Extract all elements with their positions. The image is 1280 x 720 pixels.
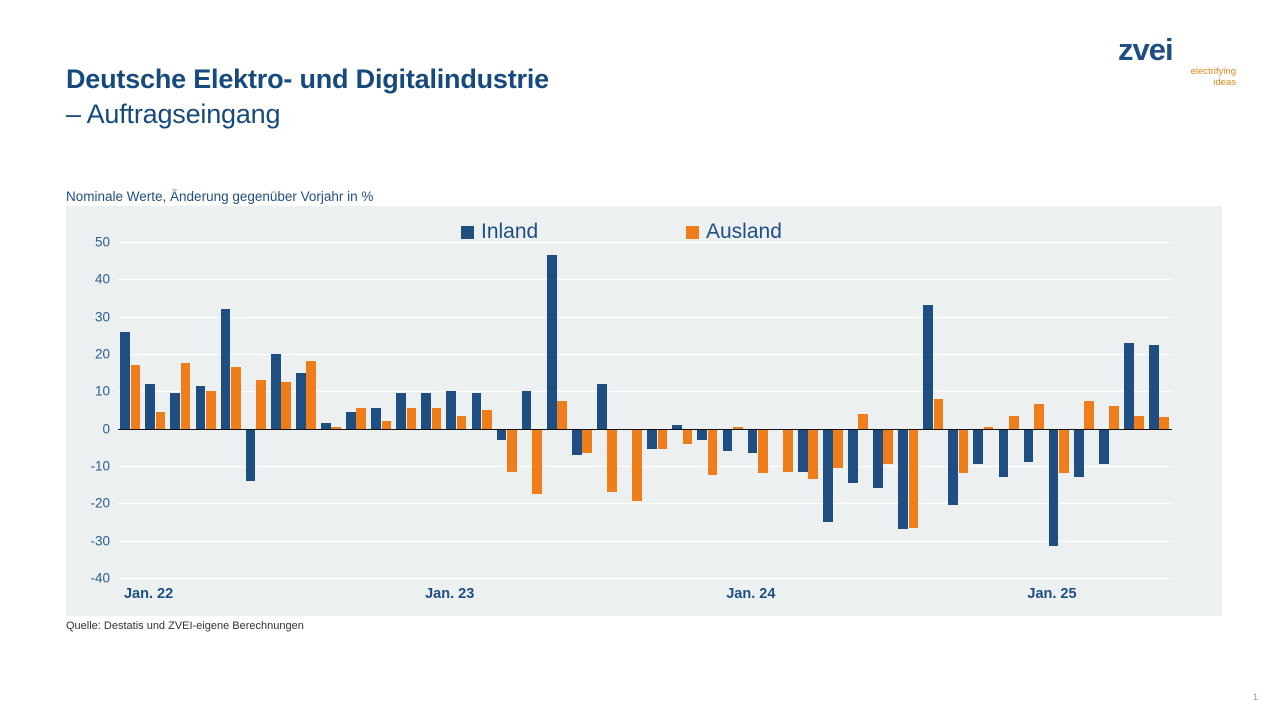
legend-label-ausland: Ausland	[706, 220, 782, 244]
x-axis-tick-label: Jan. 24	[726, 586, 775, 602]
bar-ausland-33	[959, 429, 969, 474]
title-line-secondary: – Auftragseingang	[66, 96, 549, 132]
page-number: 1	[1253, 692, 1258, 702]
bar-ausland-29	[858, 414, 868, 429]
gridline	[118, 578, 1172, 579]
bar-inland-28	[823, 429, 833, 522]
page-title: Deutsche Elektro- und Digitalindustrie –…	[66, 62, 549, 132]
bar-ausland-28	[833, 429, 843, 468]
y-axis-tick-label: 0	[102, 421, 110, 436]
bar-ausland-17	[557, 401, 567, 429]
bar-inland-23	[697, 429, 707, 440]
bar-ausland-39	[1109, 406, 1119, 428]
bar-inland-2	[170, 393, 180, 428]
chart-subtitle: Nominale Werte, Änderung gegenüber Vorja…	[66, 189, 373, 204]
bar-ausland-9	[356, 408, 366, 429]
bar-inland-4	[221, 309, 231, 428]
bar-ausland-11	[407, 408, 417, 429]
bar-ausland-31	[909, 429, 919, 528]
bar-ausland-22	[683, 429, 693, 444]
bar-inland-36	[1024, 429, 1034, 463]
bar-ausland-38	[1084, 401, 1094, 429]
bar-inland-18	[572, 429, 582, 455]
bar-inland-35	[999, 429, 1009, 478]
bar-inland-6	[271, 354, 281, 429]
bar-inland-13	[446, 391, 456, 428]
bar-ausland-13	[457, 416, 467, 429]
bar-ausland-1	[156, 412, 166, 429]
legend-item-ausland: Ausland	[686, 220, 782, 244]
logo-wordmark: zvei	[1118, 34, 1238, 65]
bar-ausland-35	[1009, 416, 1019, 429]
zero-line	[118, 429, 1172, 431]
y-axis-tick-label: 40	[95, 272, 110, 287]
bar-inland-39	[1099, 429, 1109, 464]
bar-inland-7	[296, 373, 306, 429]
chart-panel: Inland Ausland 50403020100-10-20-30-40 J…	[66, 206, 1222, 616]
bar-ausland-4	[231, 367, 241, 429]
bar-ausland-20	[632, 429, 642, 502]
y-axis-tick-label: 20	[95, 347, 110, 362]
y-axis-tick-label: -20	[90, 496, 110, 511]
bar-inland-34	[973, 429, 983, 464]
title-line-primary: Deutsche Elektro- und Digitalindustrie	[66, 62, 549, 96]
bar-inland-24	[723, 429, 733, 451]
y-axis-tick-label: -40	[90, 571, 110, 586]
logo-tagline-line1: electrifying	[1118, 66, 1236, 77]
y-axis-tick-label: 30	[95, 309, 110, 324]
bar-ausland-23	[708, 429, 718, 476]
logo-tagline-line2: ideas	[1118, 77, 1236, 88]
x-axis-tick-label: Jan. 22	[124, 586, 173, 602]
bar-inland-32	[923, 305, 933, 428]
x-axis-labels: Jan. 22Jan. 23Jan. 24Jan. 25	[118, 586, 1172, 610]
plot-area	[118, 242, 1172, 578]
bar-inland-11	[396, 393, 406, 428]
y-axis-tick-label: -10	[90, 459, 110, 474]
bar-inland-30	[873, 429, 883, 489]
bar-ausland-10	[382, 421, 392, 428]
bar-ausland-2	[181, 363, 191, 428]
bar-ausland-14	[482, 410, 492, 429]
bar-ausland-6	[281, 382, 291, 429]
bar-inland-5	[246, 429, 256, 481]
legend-label-inland: Inland	[481, 220, 538, 244]
y-axis-tick-label: -30	[90, 533, 110, 548]
bar-inland-14	[472, 393, 482, 428]
source-note: Quelle: Destatis und ZVEI-eigene Berechn…	[66, 620, 304, 632]
bar-inland-33	[948, 429, 958, 506]
legend-item-inland: Inland	[461, 220, 538, 244]
x-axis-tick-label: Jan. 25	[1027, 586, 1076, 602]
bar-inland-17	[547, 255, 557, 429]
bar-ausland-26	[783, 429, 793, 472]
bar-inland-38	[1074, 429, 1084, 478]
legend-swatch-ausland	[686, 226, 699, 239]
y-axis-tick-label: 50	[95, 235, 110, 250]
bar-inland-15	[497, 429, 507, 440]
bar-ausland-12	[432, 408, 442, 429]
bar-ausland-19	[607, 429, 617, 492]
bar-ausland-18	[582, 429, 592, 453]
bar-inland-0	[120, 332, 130, 429]
bar-ausland-3	[206, 391, 216, 428]
bar-ausland-37	[1059, 429, 1069, 474]
bar-inland-31	[898, 429, 908, 530]
bar-inland-19	[597, 384, 607, 429]
bar-inland-27	[798, 429, 808, 472]
bar-inland-1	[145, 384, 155, 429]
bar-inland-37	[1049, 429, 1059, 547]
bar-inland-25	[748, 429, 758, 453]
bar-inland-12	[421, 393, 431, 428]
bar-ausland-40	[1134, 416, 1144, 429]
y-axis-tick-label: 10	[95, 384, 110, 399]
bar-series-container	[118, 242, 1172, 578]
bar-inland-40	[1124, 343, 1134, 429]
bar-ausland-41	[1159, 417, 1169, 428]
bar-ausland-30	[883, 429, 893, 464]
x-axis-tick-label: Jan. 23	[425, 586, 474, 602]
legend-swatch-inland	[461, 226, 474, 239]
bar-ausland-21	[658, 429, 668, 450]
bar-ausland-0	[131, 365, 141, 428]
bar-ausland-16	[532, 429, 542, 494]
bar-ausland-27	[808, 429, 818, 479]
bar-ausland-32	[934, 399, 944, 429]
bar-inland-3	[196, 386, 206, 429]
bar-inland-29	[848, 429, 858, 483]
bar-inland-9	[346, 412, 356, 429]
bar-inland-16	[522, 391, 532, 428]
bar-ausland-15	[507, 429, 517, 472]
y-axis-labels: 50403020100-10-20-30-40	[66, 242, 118, 578]
bar-ausland-7	[306, 361, 316, 428]
bar-ausland-5	[256, 380, 266, 429]
bar-inland-21	[647, 429, 657, 450]
logo-tagline: electrifying ideas	[1118, 66, 1238, 88]
bar-ausland-25	[758, 429, 768, 474]
bar-inland-41	[1149, 345, 1159, 429]
bar-inland-10	[371, 408, 381, 429]
zvei-logo: zvei electrifying ideas	[1118, 34, 1238, 88]
bar-ausland-36	[1034, 404, 1044, 428]
